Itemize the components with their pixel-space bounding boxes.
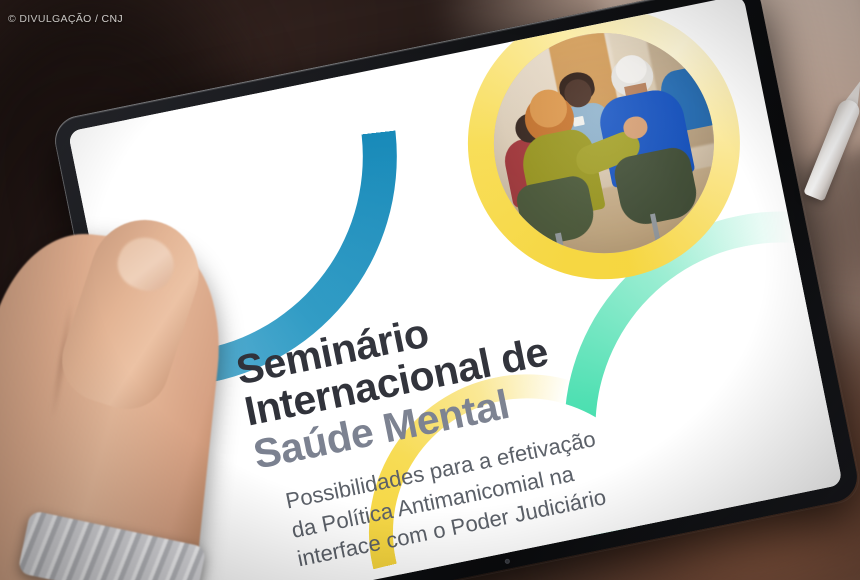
credit-watermark: © DIVULGAÇÃO / CNJ xyxy=(8,13,123,25)
photo-group-therapy xyxy=(474,13,733,272)
photo-vignette xyxy=(474,13,733,272)
front-camera-icon xyxy=(504,558,510,564)
screenshot-canvas: © DIVULGAÇÃO / CNJ xyxy=(0,0,860,580)
